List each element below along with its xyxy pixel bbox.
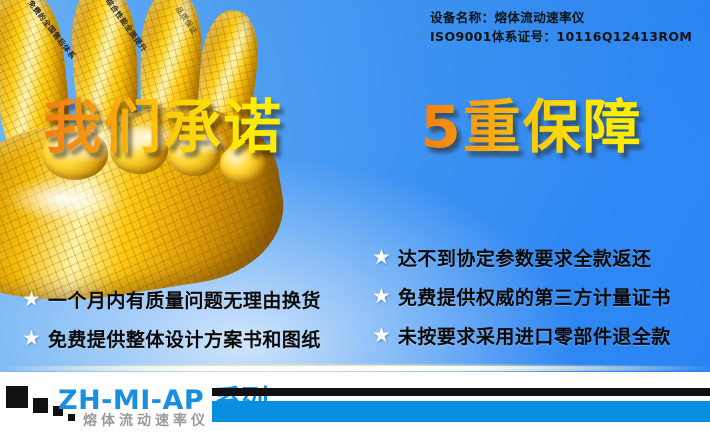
device-name-label: 设备名称：熔体流动速率仪 [430,8,692,27]
golden-hand-graphic: 免费的全国售后体系 综合性能全面提升 品质保证 [0,0,306,300]
device-spec-block: 设备名称：熔体流动速率仪 ISO9001体系证号：10116Q12413ROM [430,8,692,46]
footer-bar: ZH-MI-AP 系列 熔体流动速率仪 [0,372,710,440]
hand-knuckle-1 [42,128,108,180]
hand-knuckle-3 [168,132,220,176]
hand-knuckle-4 [220,144,266,184]
promo-banner: 免费的全国售后体系 综合性能全面提升 品质保证 设备名称：熔体流动速率仪 ISO… [0,0,710,440]
logo-square-1 [6,386,28,408]
iso-certificate-label: ISO9001体系证号：10116Q12413ROM [430,27,692,46]
brand-subtitle: 熔体流动速率仪 [83,410,209,430]
footer-accent-bar-blue [212,401,710,422]
hand-knuckle-2 [110,126,168,174]
logo-square-2 [33,398,48,413]
footer-accent-bar-black [212,388,710,396]
